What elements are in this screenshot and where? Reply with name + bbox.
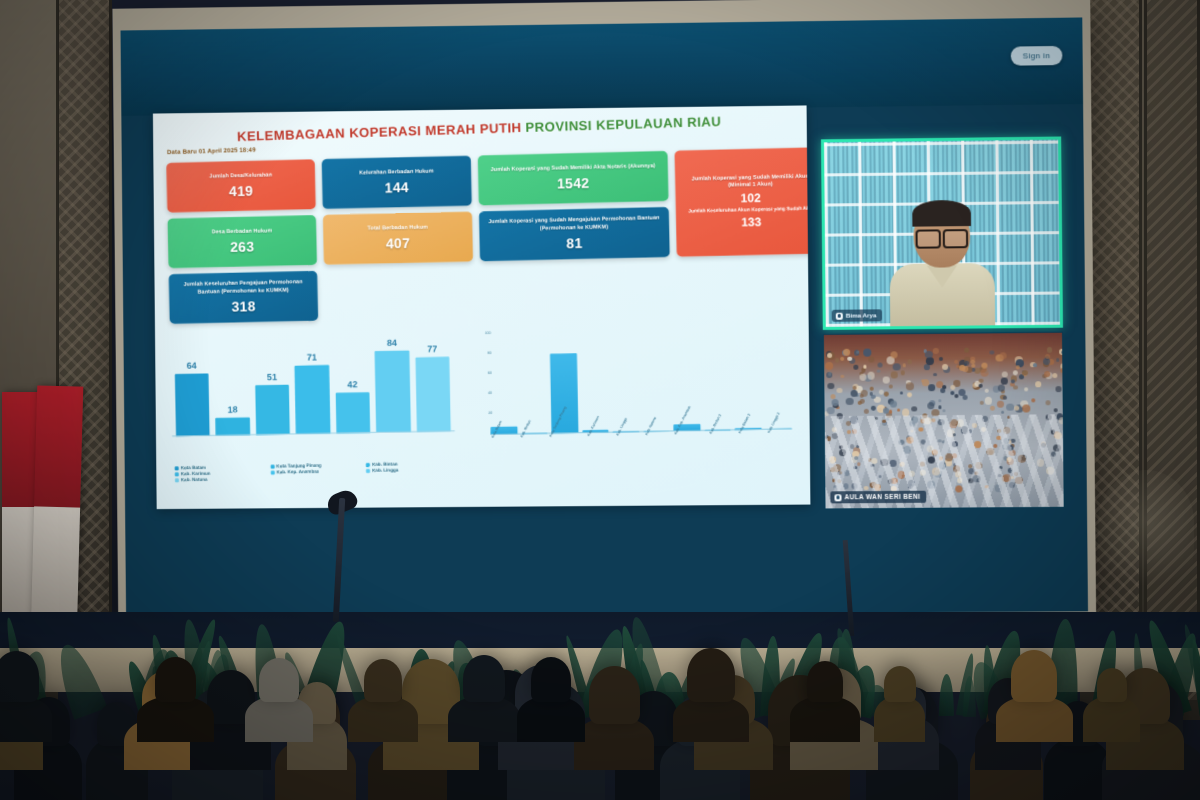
audience-head <box>155 657 195 702</box>
audience-head <box>884 666 916 702</box>
bar-value-label: 51 <box>255 372 289 383</box>
audience-member <box>348 696 418 742</box>
audience-head <box>687 648 735 702</box>
kpi-label: Desa Berbadan Hukum <box>212 228 272 237</box>
glasses-icon <box>916 229 969 245</box>
microphone-icon <box>836 312 843 319</box>
bar-1: 18 <box>216 418 250 436</box>
kpi-label-secondary: Jumlah Keseluruhan Akun Koperasi yang Su… <box>688 206 810 215</box>
bar-chart-kabupaten-kota: 64185171428477 Kota BatamKota Tanjung Pi… <box>168 326 456 483</box>
audience-member <box>874 696 925 742</box>
charts-row: 64185171428477 Kota BatamKota Tanjung Pi… <box>168 319 797 483</box>
audience-member <box>245 696 313 742</box>
speaker-figure <box>889 203 995 327</box>
audience-head <box>1011 650 1057 702</box>
projection-screen-frame: Sign in KELEMBAGAAN KOPERASI MERAH PUTIH… <box>112 0 1096 627</box>
bar-2: 51 <box>255 385 290 435</box>
audience-member <box>1083 696 1140 742</box>
speaker-name-label: Bima Arya <box>846 312 877 319</box>
bar-4: 42 <box>335 392 370 434</box>
audience-member <box>448 696 520 742</box>
sign-in-button[interactable]: Sign in <box>1010 46 1062 66</box>
kpi-card-kelurahan-berbadan-hukum: Kelurahan Berbadan Hukum 144 <box>322 155 472 208</box>
audience-head <box>589 666 640 723</box>
presentation-slide: KELEMBAGAAN KOPERASI MERAH PUTIH PROVINS… <box>153 105 810 509</box>
audience-foreground <box>0 570 1200 800</box>
kpi-card-jumlah-desa-kelurahan: Jumlah Desa/Kelurahan 419 <box>166 159 316 212</box>
audience-head <box>463 655 505 702</box>
kpi-label: Kelurahan Berbadan Hukum <box>359 168 434 177</box>
bar-3: 71 <box>295 364 331 434</box>
chart-legend: Kota BatamKota Tanjung PinangKab. Bintan… <box>175 460 459 482</box>
audience-member <box>673 696 749 742</box>
speaker-name-chip: Bima Arya <box>832 309 883 322</box>
audience-member <box>574 717 654 770</box>
bar-value-label: 77 <box>415 343 449 354</box>
audience-head <box>1097 668 1127 702</box>
audience-head <box>807 661 843 702</box>
chart-x-labels: Kota BatamKab. BintanKota Tanjung Pinang… <box>491 429 793 476</box>
kpi-value: 263 <box>230 238 254 254</box>
screen-top-band <box>121 17 1084 115</box>
kpi-card-koperasi-akta-notaris: Jumlah Koperasi yang Sudah Memiliki Akta… <box>478 151 669 205</box>
kpi-card-permohonan-bantuan: Jumlah Koperasi yang Sudah Mengajukan Pe… <box>479 207 670 261</box>
kpi-value: 81 <box>566 235 583 251</box>
room-scene: Sign in KELEMBAGAAN KOPERASI MERAH PUTIH… <box>0 0 1200 800</box>
audience-head <box>259 658 299 702</box>
bar-value-label: 42 <box>335 379 369 390</box>
audience-member <box>517 696 584 742</box>
kpi-value: 1542 <box>557 175 590 192</box>
video-conference-panel: Bima Arya AULA WAN SERI BENI <box>821 136 1065 509</box>
bar-value-label: 71 <box>295 352 329 363</box>
kpi-card-total-berbadan-hukum: Total Berbadan Hukum 407 <box>323 211 473 264</box>
audience-member <box>790 696 860 742</box>
kpi-label: Jumlah Koperasi yang Sudah Memiliki Akun… <box>680 173 810 191</box>
bar-6: 77 <box>415 356 451 432</box>
legend-item: Kab. Kep. Anambas <box>270 468 362 475</box>
kpi-value: 407 <box>386 235 410 252</box>
audience-head <box>531 657 571 702</box>
microphone-icon <box>834 494 841 501</box>
kpi-value: 102 <box>741 190 761 204</box>
kpi-value-secondary: 133 <box>741 215 761 229</box>
kpi-label: Jumlah Desa/Kelurahan <box>209 172 272 181</box>
bar-5: 84 <box>375 350 411 433</box>
slide-title-part2: PROVINSI KEPULAUAN RIAU <box>525 114 721 135</box>
bar-chart-bars: 64185171428477 <box>174 344 451 437</box>
audience-member <box>0 696 52 742</box>
bar-chart-secondary: 100806040200 Kota BatamKab. BintanKota T… <box>467 319 797 477</box>
video-tile-hall[interactable]: AULA WAN SERI BENI <box>823 332 1065 510</box>
kpi-card-desa-berbadan-hukum: Desa Berbadan Hukum 263 <box>167 215 317 268</box>
kpi-label: Jumlah Koperasi yang Sudah Mengajukan Pe… <box>484 215 664 234</box>
video-tile-speaker[interactable]: Bima Arya <box>821 136 1063 329</box>
legend-item: Kab. Lingga <box>366 466 458 473</box>
bar-value-label: 18 <box>215 405 249 416</box>
kpi-card-grid: Jumlah Desa/Kelurahan 419 Kelurahan Berb… <box>166 148 795 324</box>
audience-member <box>996 696 1073 742</box>
audience-member <box>137 696 214 742</box>
audience-head <box>364 659 402 702</box>
bar-value-label: 64 <box>175 361 209 372</box>
audience-head <box>0 651 39 702</box>
venue-name-label: AULA WAN SERI BENI <box>845 493 921 501</box>
bar-value-label: 84 <box>375 337 409 348</box>
legend-item: Kab. Natuna <box>175 476 267 483</box>
kpi-card-keseluruhan-pengajuan: Jumlah Keseluruhan Pengajuan Permohonan … <box>169 271 319 324</box>
kpi-value: 419 <box>229 183 253 199</box>
kpi-value: 144 <box>385 179 409 196</box>
kpi-label: Total Berbadan Hukum <box>367 224 427 233</box>
kpi-card-koperasi-akun-aktif: Jumlah Koperasi yang Sudah Memiliki Akun… <box>675 147 811 257</box>
kpi-value: 318 <box>231 298 255 314</box>
bar-0: 64 <box>175 374 210 437</box>
venue-name-chip: AULA WAN SERI BENI <box>830 491 926 504</box>
kpi-label: Jumlah Koperasi yang Sudah Memiliki Akta… <box>490 163 655 174</box>
projection-screen: Sign in KELEMBAGAAN KOPERASI MERAH PUTIH… <box>121 17 1088 616</box>
kpi-label: Jumlah Keseluruhan Pengajuan Permohonan … <box>174 279 313 297</box>
